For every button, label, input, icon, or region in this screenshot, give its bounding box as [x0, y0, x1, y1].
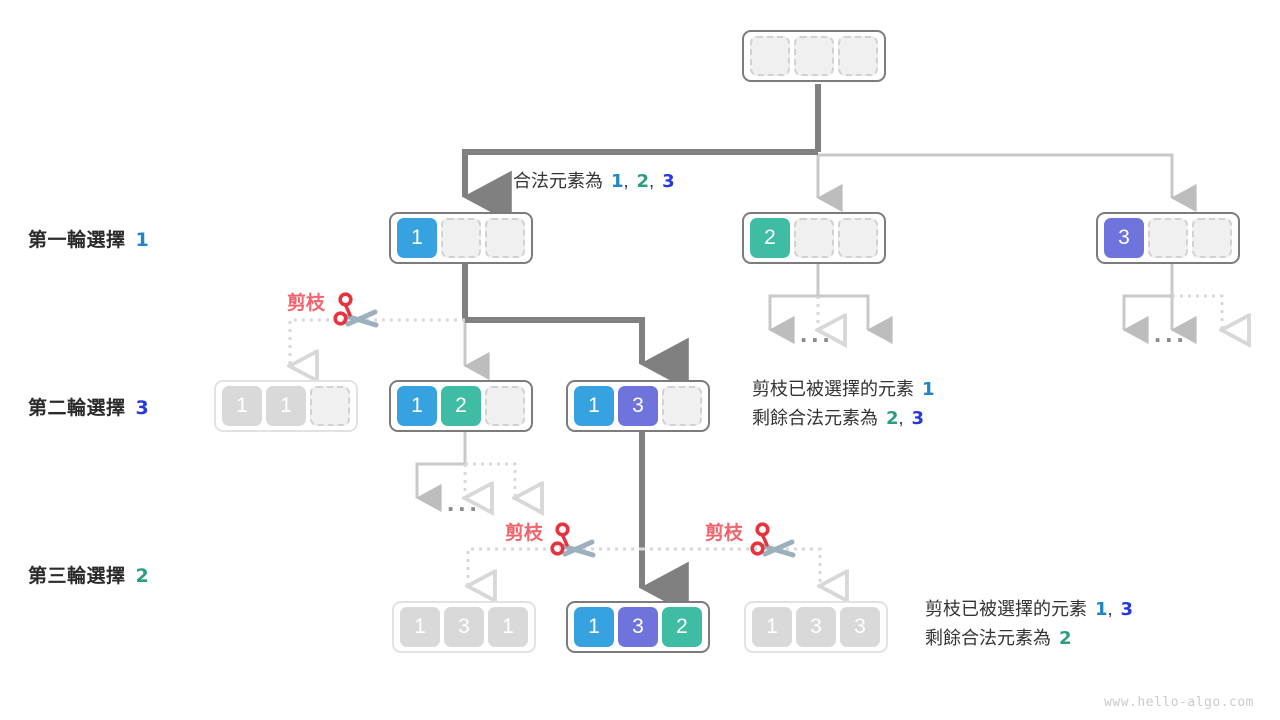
scissors-icon [749, 520, 799, 570]
ellipsis-under-node-1-2: ... [447, 487, 481, 518]
note-value: 3 [1121, 599, 1134, 620]
note-round3-line2: 剩餘合法元素為2 [925, 624, 1133, 653]
round-label-2-value: 3 [136, 397, 150, 419]
tree-node-1-3[interactable]: 1 3 [566, 380, 710, 432]
node-cell: 3 [444, 607, 484, 647]
ellipsis-under-node-3: ... [1154, 318, 1188, 349]
node-cell: 1 [574, 386, 614, 426]
node-cell: 2 [441, 386, 481, 426]
round-label-1-text: 第一輪選擇 [28, 230, 126, 251]
tree-node-1-1-pruned[interactable]: 1 1 [214, 380, 358, 432]
note-round2: 剪枝已被選擇的元素1 剩餘合法元素為2,3 [752, 375, 935, 433]
node-cell: 2 [662, 607, 702, 647]
node-cell [838, 218, 878, 258]
watermark: www.hello-algo.com [1104, 695, 1254, 710]
note-round2-line1: 剪枝已被選擇的元素1 [752, 375, 935, 404]
node-cell [794, 218, 834, 258]
round-label-1: 第一輪選擇1 [28, 225, 149, 252]
node-cell: 1 [222, 386, 262, 426]
note-round3-line2-text: 剩餘合法元素為 [925, 628, 1051, 648]
prune-label-3: 剪枝 [705, 518, 743, 545]
node-cell: 3 [840, 607, 880, 647]
tree-node-root[interactable] [742, 30, 886, 82]
node-cell: 1 [752, 607, 792, 647]
note-legal-elements: 合法元素為1,2,3 [513, 167, 675, 196]
node-cell: 1 [397, 386, 437, 426]
prune-label-1: 剪枝 [287, 288, 325, 315]
note-round2-line2: 剩餘合法元素為2,3 [752, 404, 935, 433]
note-value: 1 [922, 379, 935, 400]
node-cell [485, 386, 525, 426]
round-label-2: 第二輪選擇3 [28, 393, 149, 420]
node-cell: 3 [618, 607, 658, 647]
note-round3-line1-text: 剪枝已被選擇的元素 [925, 599, 1087, 619]
tree-node-1[interactable]: 1 [389, 212, 533, 264]
ellipsis-under-node-2: ... [800, 318, 834, 349]
round-label-3-value: 2 [136, 565, 150, 587]
node-cell [1148, 218, 1188, 258]
note-value: 1 [611, 171, 624, 192]
node-cell [838, 36, 878, 76]
scissors-icon [549, 520, 599, 570]
prune-label-2: 剪枝 [505, 518, 543, 545]
node-cell: 3 [796, 607, 836, 647]
node-cell [441, 218, 481, 258]
note-value: 2 [637, 171, 650, 192]
note-legal-elements-text: 合法元素為 [513, 171, 603, 191]
node-cell [750, 36, 790, 76]
node-cell [1192, 218, 1232, 258]
node-cell: 2 [750, 218, 790, 258]
tree-node-3[interactable]: 3 [1096, 212, 1240, 264]
tree-node-1-3-3-pruned[interactable]: 1 3 3 [744, 601, 888, 653]
tree-node-1-3-1-pruned[interactable]: 1 3 1 [392, 601, 536, 653]
round-label-2-text: 第二輪選擇 [28, 398, 126, 419]
node-cell: 1 [400, 607, 440, 647]
round-label-3-text: 第三輪選擇 [28, 566, 126, 587]
note-value: 1 [1095, 599, 1108, 620]
diagram-canvas: 第一輪選擇1 第二輪選擇3 第三輪選擇2 1 2 3 1 1 1 2 1 [0, 0, 1280, 720]
round-label-1-value: 1 [136, 229, 150, 251]
node-cell: 1 [488, 607, 528, 647]
note-value: 3 [662, 171, 675, 192]
node-cell: 1 [574, 607, 614, 647]
note-round2-line1-text: 剪枝已被選擇的元素 [752, 379, 914, 399]
node-cell: 3 [618, 386, 658, 426]
round-label-3: 第三輪選擇2 [28, 561, 149, 588]
note-round2-line2-text: 剩餘合法元素為 [752, 408, 878, 428]
note-round3: 剪枝已被選擇的元素1,3 剩餘合法元素為2 [925, 595, 1133, 653]
tree-node-2[interactable]: 2 [742, 212, 886, 264]
node-cell: 1 [397, 218, 437, 258]
node-cell [662, 386, 702, 426]
scissors-icon [332, 290, 382, 340]
node-cell [794, 36, 834, 76]
note-round3-line1: 剪枝已被選擇的元素1,3 [925, 595, 1133, 624]
node-cell: 1 [266, 386, 306, 426]
node-cell [310, 386, 350, 426]
node-cell: 3 [1104, 218, 1144, 258]
tree-node-1-3-2[interactable]: 1 3 2 [566, 601, 710, 653]
note-value: 3 [912, 408, 925, 429]
note-value: 2 [886, 408, 899, 429]
tree-node-1-2[interactable]: 1 2 [389, 380, 533, 432]
note-value: 2 [1059, 628, 1072, 649]
node-cell [485, 218, 525, 258]
